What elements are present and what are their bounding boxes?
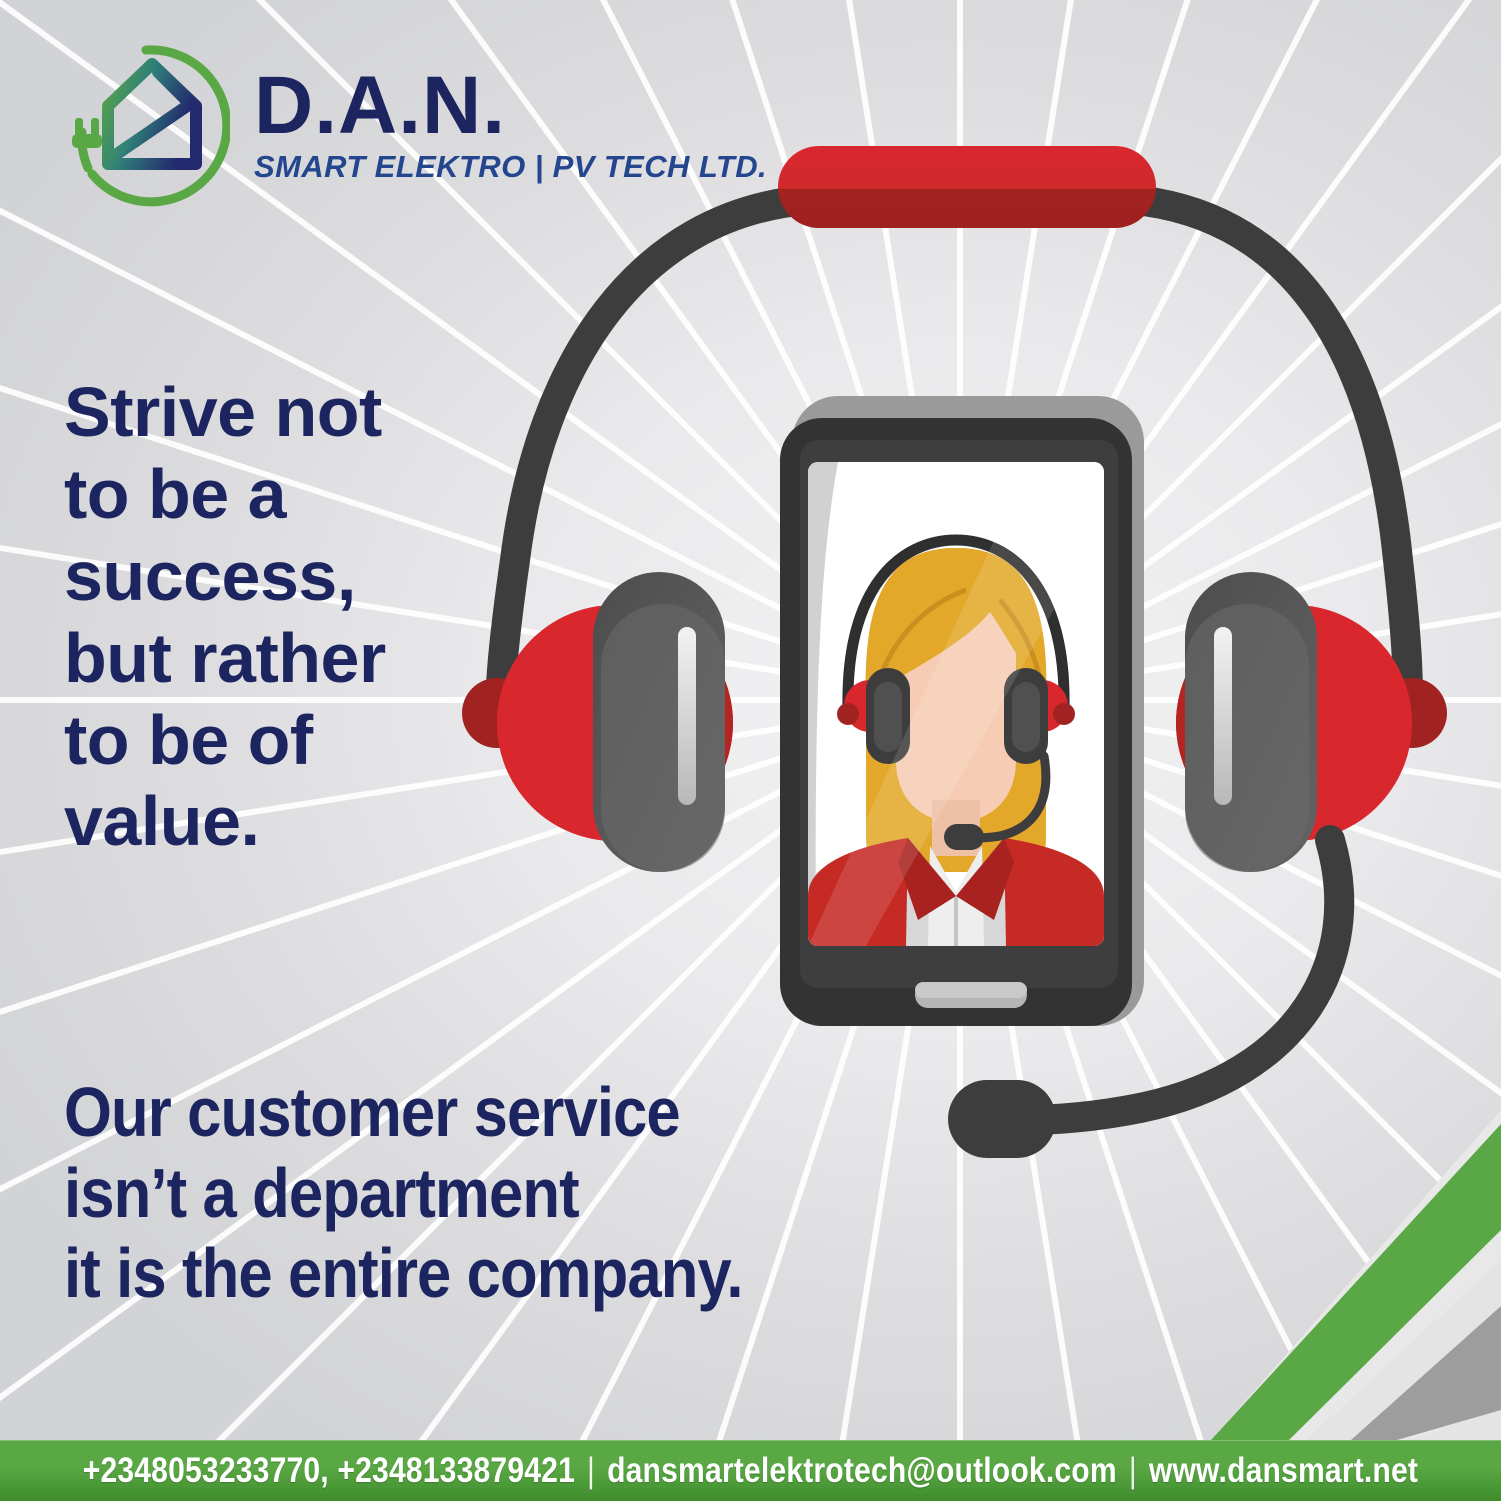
tagline-line-2: isn’t a department	[64, 1153, 944, 1234]
corner-ribbon-decoration	[1211, 1110, 1501, 1440]
brand-logo: D.A.N. SMART ELEKTRO | PV TECH LTD.	[62, 42, 767, 210]
quote-line-2: to be a	[64, 454, 494, 536]
tagline-line-3: it is the entire company.	[64, 1233, 944, 1314]
contact-footer-bar: +2348053233770, +2348133879421 | dansmar…	[0, 1440, 1501, 1501]
quote-text: Strive not to be a success, but rather t…	[64, 372, 494, 863]
poster-canvas: D.A.N. SMART ELEKTRO | PV TECH LTD. Stri…	[0, 0, 1501, 1501]
quote-line-5: to be of	[64, 700, 494, 782]
quote-line-1: Strive not	[64, 372, 494, 454]
quote-line-3: success,	[64, 536, 494, 618]
footer-website[interactable]: www.dansmart.net	[1149, 1451, 1418, 1491]
brand-title: D.A.N.	[254, 67, 767, 146]
footer-separator-1: |	[587, 1451, 595, 1491]
house-recycle-plug-icon	[62, 42, 230, 210]
tagline-line-1: Our customer service	[64, 1072, 944, 1153]
brand-subtitle: SMART ELEKTRO | PV TECH LTD.	[254, 149, 767, 185]
footer-phone-numbers[interactable]: +2348053233770, +2348133879421	[83, 1451, 575, 1491]
footer-email[interactable]: dansmartelektrotech@outlook.com	[607, 1451, 1117, 1491]
footer-separator-2: |	[1129, 1451, 1137, 1491]
quote-line-4: but rather	[64, 618, 494, 700]
quote-line-6: value.	[64, 781, 494, 863]
tagline-text: Our customer service isn’t a department …	[64, 1072, 944, 1314]
